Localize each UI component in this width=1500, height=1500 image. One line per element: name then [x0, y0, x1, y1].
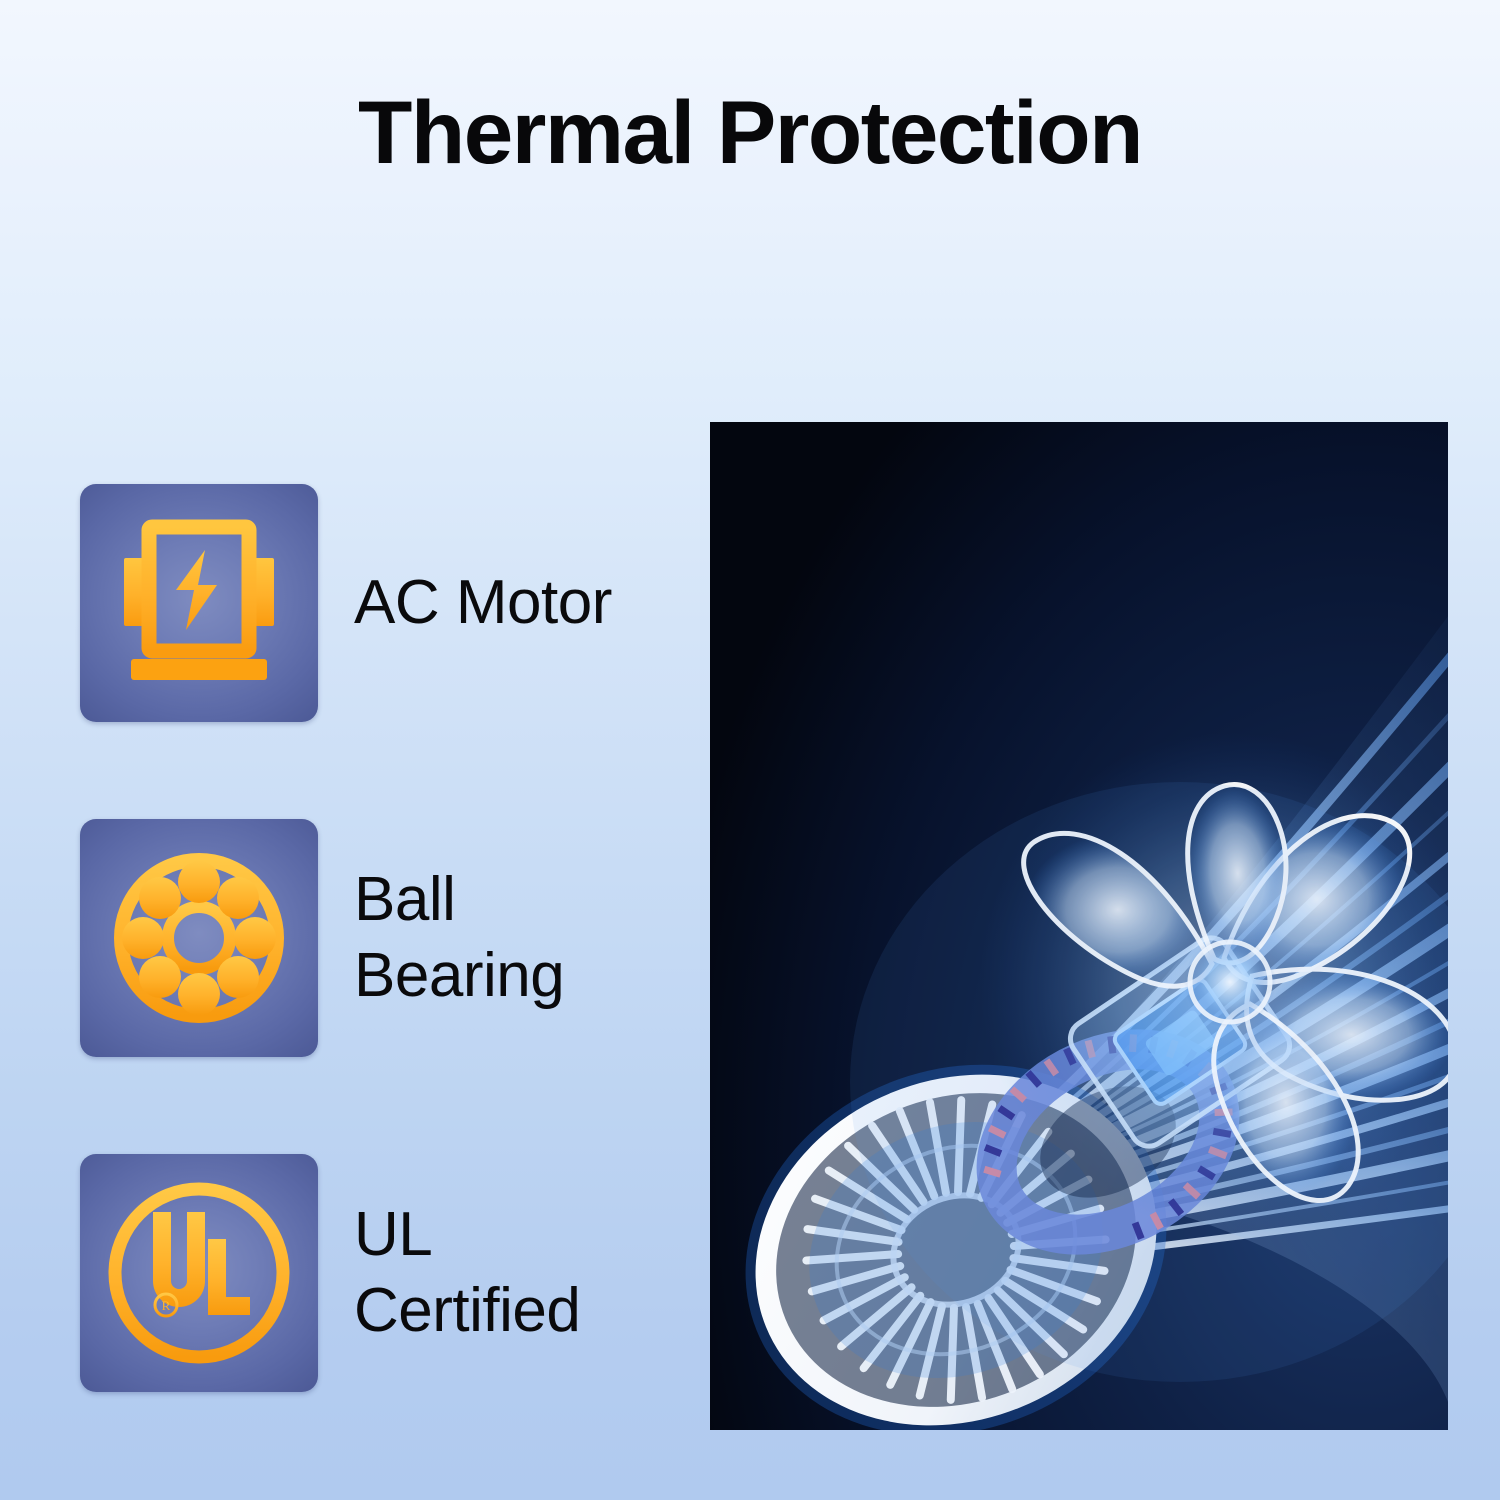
svg-text:R: R [162, 1298, 171, 1313]
feature-item-ac-motor: AC Motor [80, 484, 612, 722]
ul-certified-icon-tile: R [80, 1154, 318, 1392]
product-feature-page: Thermal Protection [0, 0, 1500, 1500]
fan-motor-airflow-photo [710, 422, 1448, 1430]
page-title: Thermal Protection [0, 86, 1500, 179]
feature-label-ball-bearing: Ball Bearing [354, 862, 564, 1013]
feature-label-ul-certified: UL Certified [354, 1197, 580, 1348]
ac-motor-icon-tile [80, 484, 318, 722]
feature-label-ac-motor: AC Motor [354, 565, 612, 641]
ball-bearing-icon-tile [80, 819, 318, 1057]
feature-item-ball-bearing: Ball Bearing [80, 819, 564, 1057]
feature-item-ul-certified: R UL Certified [80, 1154, 580, 1392]
